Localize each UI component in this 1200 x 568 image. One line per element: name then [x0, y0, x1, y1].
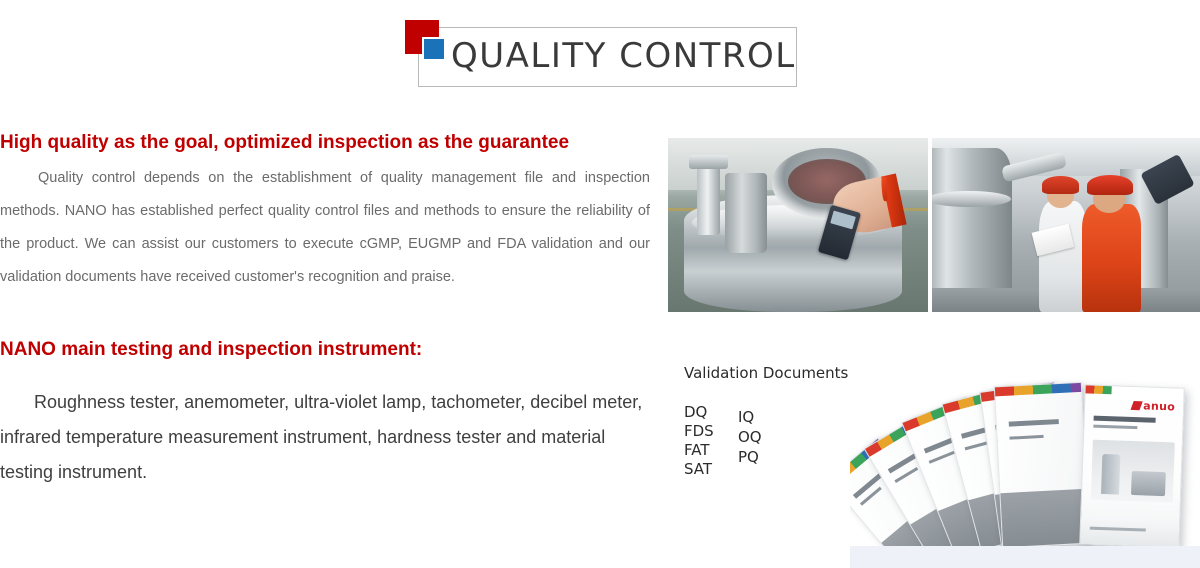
section-one-heading: High quality as the goal, optimized insp…: [0, 130, 652, 156]
validation-documents-block: Validation Documents DQ FDS FAT SAT IQ O…: [684, 363, 848, 483]
photo-worker-white-coat: [1039, 201, 1087, 312]
logo-blue-square: [422, 37, 446, 61]
photo-steel-cylinder: [725, 173, 767, 253]
testing-instrument-section: NANO main testing and inspection instrum…: [0, 337, 652, 490]
section-two-paragraph: Roughness tester, anemometer, ultra-viol…: [0, 385, 648, 490]
validation-column-one: DQ FDS FAT SAT: [684, 403, 714, 479]
binder-subtitle-bar: [928, 451, 954, 464]
cover-equipment-illustration: [1091, 440, 1175, 503]
cover-subtitle-bar: [1093, 425, 1137, 430]
cover-footer: [1080, 517, 1179, 546]
photo-worker-orange-suit: [1082, 204, 1141, 312]
photo-validation-brochures: anuo: [850, 350, 1200, 568]
binder-title-bar: [1009, 419, 1059, 427]
binder-subtitle-bar: [1009, 434, 1044, 439]
validation-documents-columns: DQ FDS FAT SAT IQ OQ PQ: [684, 403, 834, 483]
photo-worker-one-hardhat: [1042, 176, 1080, 193]
list-item: OQ: [738, 427, 762, 447]
list-item: FDS: [684, 422, 714, 441]
brochure-bottom-strip: [850, 546, 1200, 568]
section-two-heading: NANO main testing and inspection instrum…: [0, 337, 652, 363]
nanuo-brand-logo: anuo: [1132, 399, 1175, 413]
validation-column-two: IQ OQ PQ: [738, 407, 762, 467]
page-title-banner: QUALITY CONTROL: [405, 20, 797, 92]
photo-technicians-inspection: [932, 138, 1200, 312]
facility-photo-row: [668, 138, 1200, 312]
list-item: PQ: [738, 447, 762, 467]
photo-valve-top: [689, 155, 728, 169]
binder-color-band: [995, 383, 1081, 396]
list-item: DQ: [684, 403, 714, 422]
validation-documents-title: Validation Documents: [684, 363, 848, 383]
section-one-paragraph: Quality control depends on the establish…: [0, 162, 650, 294]
list-item: SAT: [684, 460, 714, 479]
cover-color-band: [1086, 385, 1112, 394]
brochure-binder: [994, 382, 1090, 548]
cover-title-bar: [1094, 416, 1156, 423]
binder-spine: [1000, 488, 1089, 547]
list-item: IQ: [738, 407, 762, 427]
page-title: QUALITY CONTROL: [451, 34, 791, 78]
brochure-front-cover: anuo: [1079, 384, 1185, 547]
photo-tank-inspection: [668, 138, 928, 312]
quality-control-page: QUALITY CONTROL High quality as the goal…: [0, 0, 1200, 568]
list-item: FAT: [684, 441, 714, 460]
brochure-fan: anuo: [850, 350, 1200, 568]
quality-control-section: High quality as the goal, optimized insp…: [0, 130, 652, 294]
photo-valve-assembly: [697, 162, 720, 235]
photo-worker-two-hardhat: [1087, 175, 1133, 196]
nano-logo-icon: [405, 20, 451, 66]
